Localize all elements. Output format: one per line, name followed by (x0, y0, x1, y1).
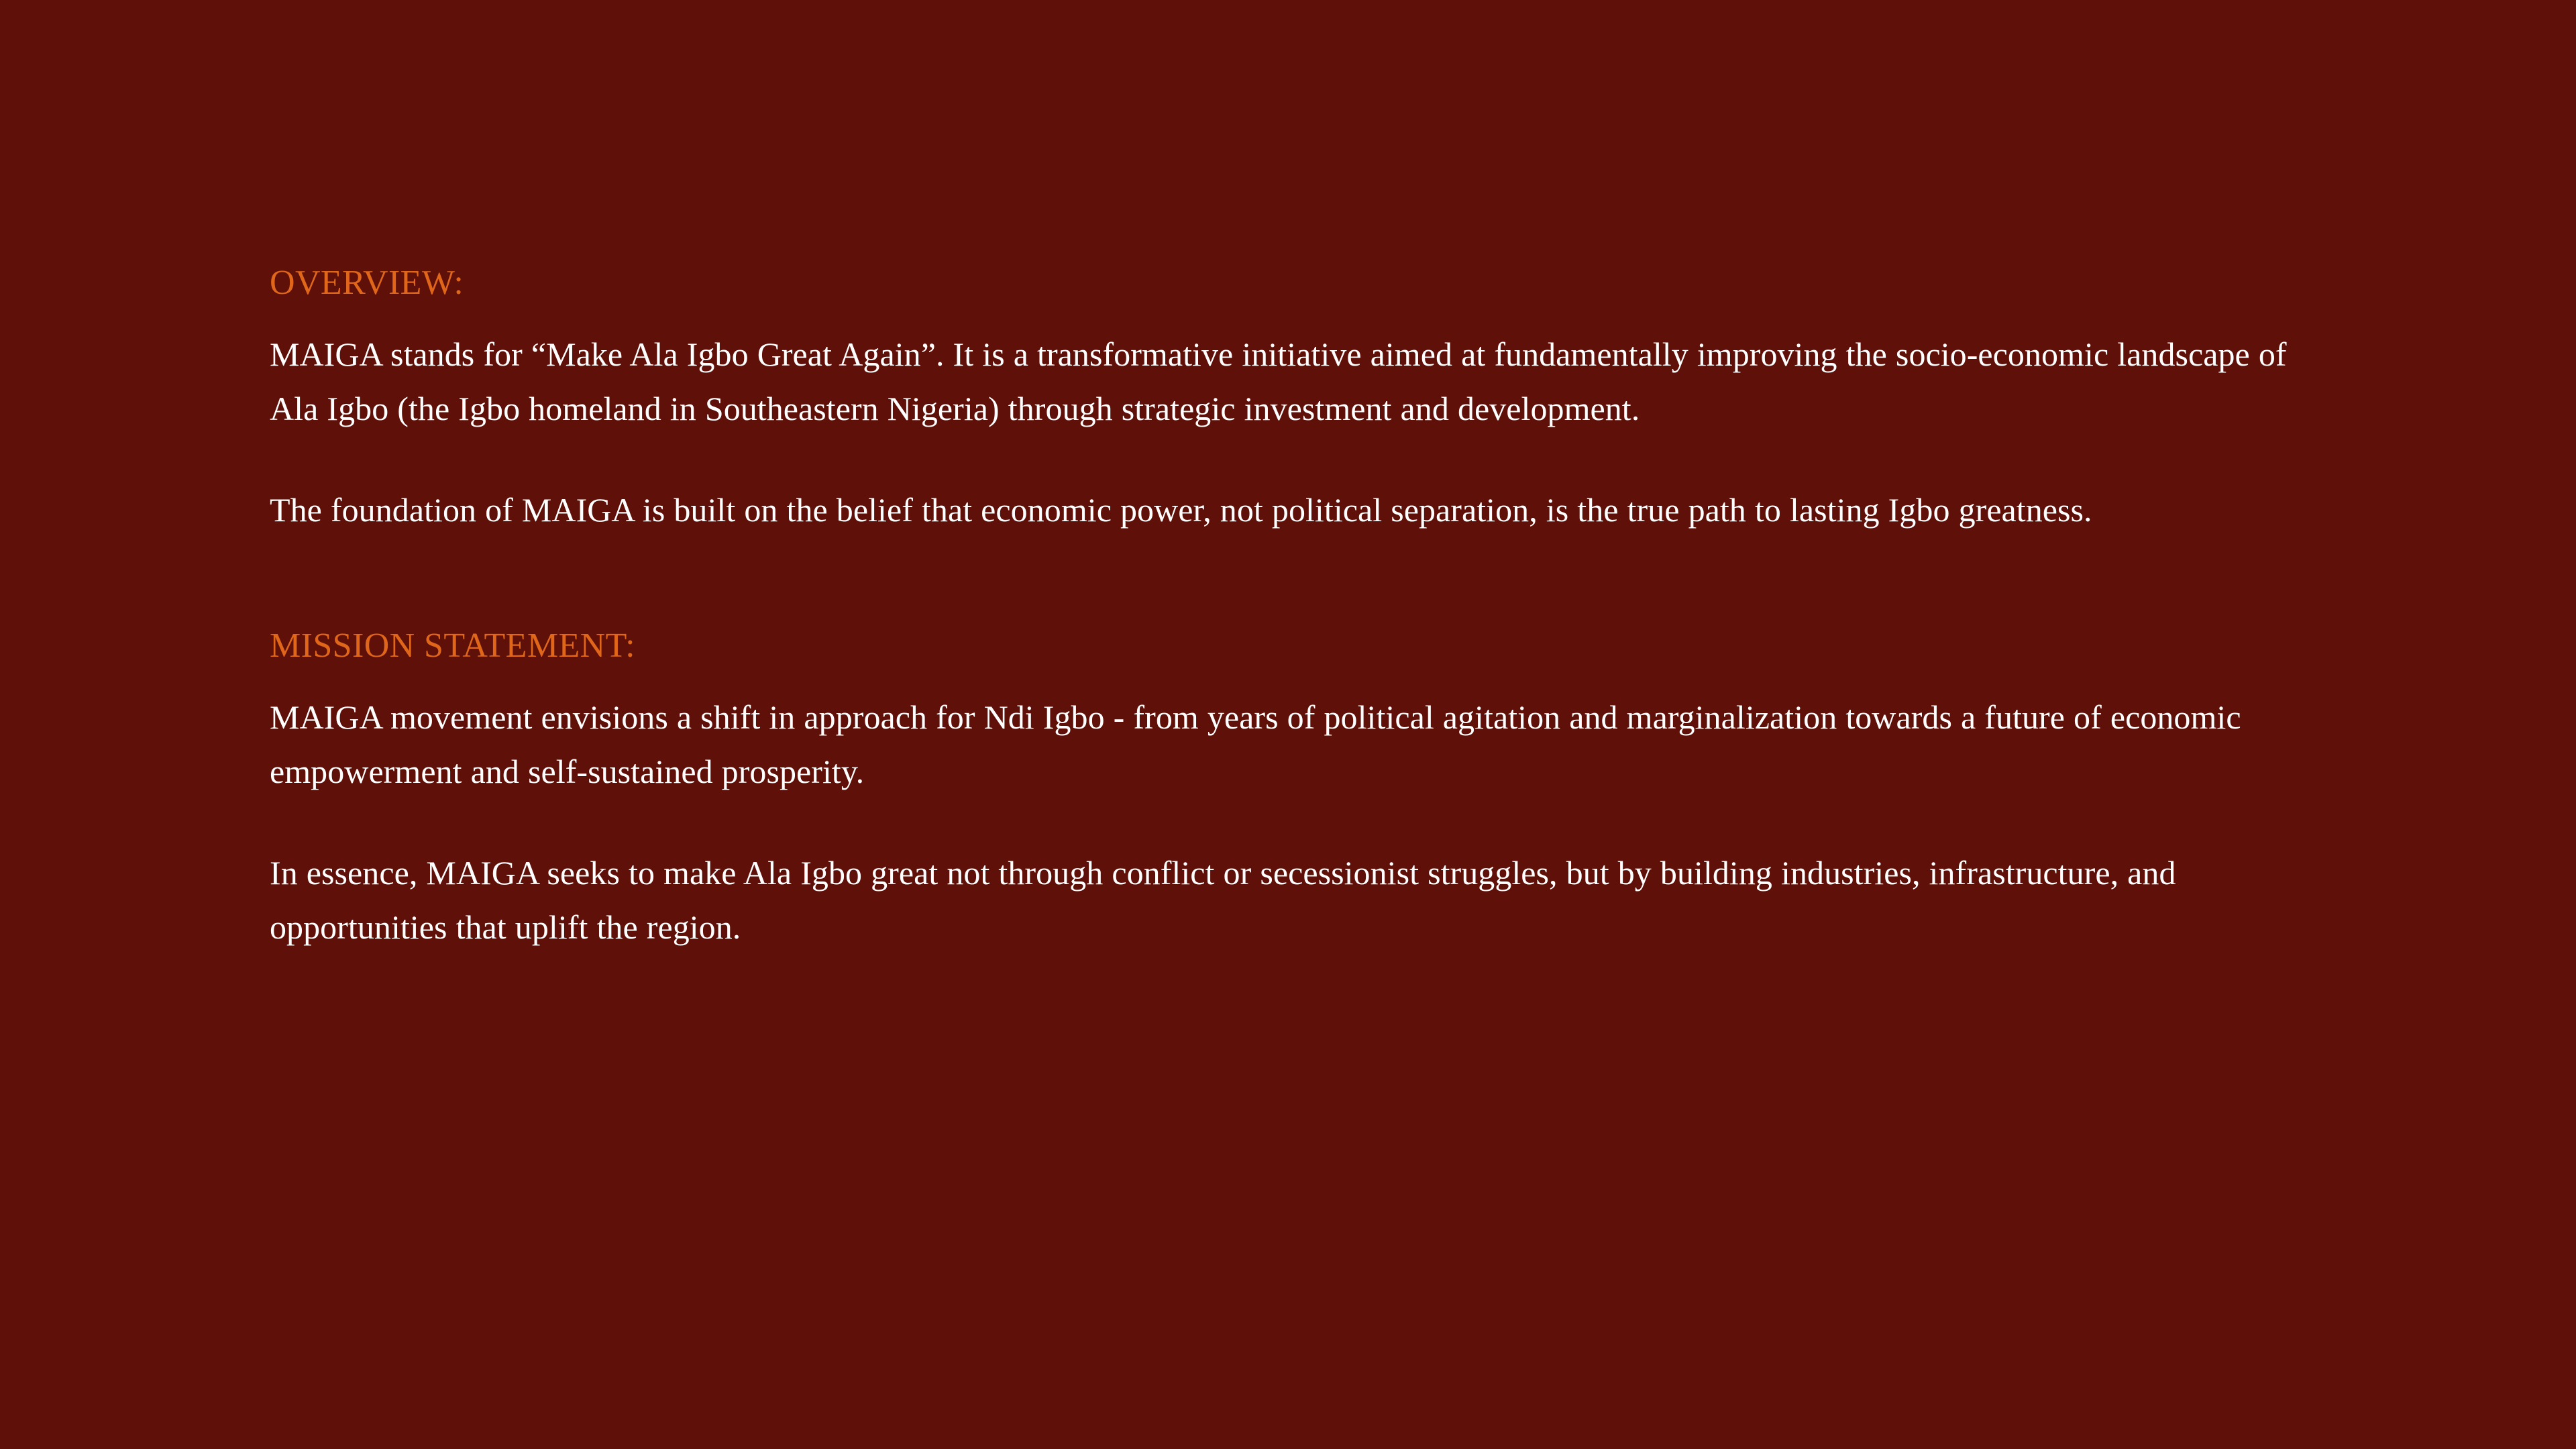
slide-canvas: OVERVIEW: MAIGA stands for “Make Ala Igb… (0, 0, 2576, 1449)
overview-paragraph-2: The foundation of MAIGA is built on the … (270, 483, 2296, 537)
mission-paragraph-1: MAIGA movement envisions a shift in appr… (270, 690, 2296, 799)
overview-paragraph-1: MAIGA stands for “Make Ala Igbo Great Ag… (270, 327, 2296, 436)
section-heading-overview: OVERVIEW: (270, 262, 2296, 305)
mission-paragraph-2: In essence, MAIGA seeks to make Ala Igbo… (270, 846, 2296, 955)
section-heading-mission-statement: MISSION STATEMENT: (270, 625, 2296, 667)
slide-content: OVERVIEW: MAIGA stands for “Make Ala Igb… (270, 262, 2296, 955)
section-overview: OVERVIEW: MAIGA stands for “Make Ala Igb… (270, 262, 2296, 537)
section-mission-statement: MISSION STATEMENT: MAIGA movement envisi… (270, 625, 2296, 955)
